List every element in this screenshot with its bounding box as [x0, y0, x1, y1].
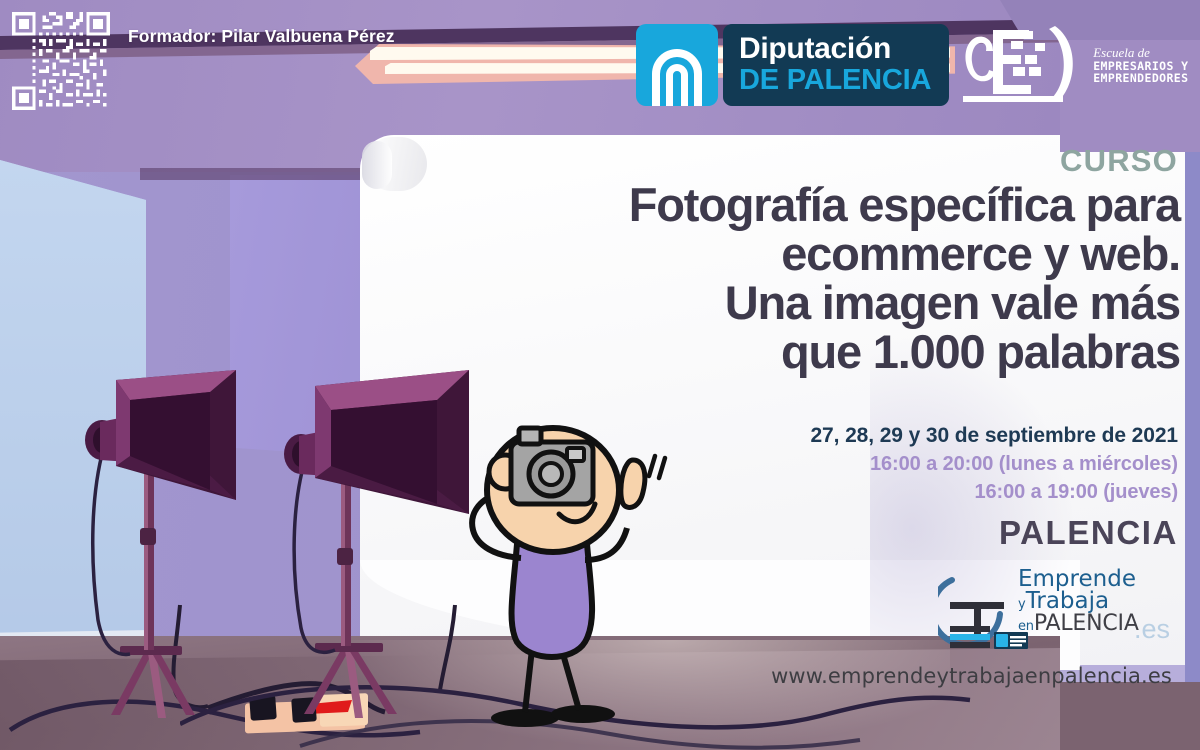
poster-title: Fotografía específica para ecommerce y w… [480, 180, 1180, 376]
schedule-line: 16:00 a 19:00 (jueves) [498, 481, 1178, 504]
title-line: Fotografía específica para [480, 180, 1180, 229]
diputacion-arch-icon [636, 24, 718, 106]
title-line: ecommerce y web. [480, 229, 1180, 278]
course-city: PALENCIA [498, 514, 1178, 552]
emprende-tld: .es [1134, 614, 1170, 645]
right-bottom-band [1060, 682, 1200, 750]
date-block: 27, 28, 29 y 30 de septiembre de 2021 16… [498, 424, 1178, 552]
emprende-wordmark: Emprende yTrabaja enPALENCIA [1018, 568, 1139, 634]
website-url[interactable]: www.emprendeytrabajaenpalencia.es [771, 664, 1172, 688]
emprende-mark [938, 566, 1030, 652]
shoe-right [551, 705, 615, 723]
eee-logo: Escuela de EMPRESARIOS Y EMPRENDEDORES [963, 23, 1188, 107]
diputacion-line1: Diputación [739, 34, 931, 65]
poster-canvas: Formador: Pilar Valbuena Pérez Diputació… [0, 0, 1200, 750]
emprende-line3: PALENCIA [1034, 611, 1139, 636]
diputacion-wordmark: Diputación DE PALENCIA [723, 24, 949, 106]
emprende-line3-wrap: enPALENCIA [1018, 613, 1139, 634]
course-kicker: CURSO [1060, 143, 1178, 179]
diputacion-line2: DE PALENCIA [739, 65, 931, 95]
backdrop-roll-shading [362, 141, 392, 189]
title-line: que 1.000 palabras [480, 327, 1180, 376]
trainer-label: Formador: Pilar Valbuena Pérez [128, 26, 395, 47]
eee-line3: EMPRENDEDORES [1093, 72, 1188, 84]
emprende-y-trabaja-logo[interactable]: Emprende yTrabaja enPALENCIA .es [938, 566, 1168, 654]
eee-wordmark: Escuela de EMPRESARIOS Y EMPRENDEDORES [1093, 46, 1188, 85]
right-edge-strip [1185, 152, 1200, 682]
course-dates: 27, 28, 29 y 30 de septiembre de 2021 [498, 424, 1178, 448]
emprende-line2-prefix: y [1018, 597, 1026, 612]
qr-code[interactable] [12, 12, 110, 110]
emprende-line1: Emprende [1018, 568, 1139, 590]
emprende-line3-prefix: en [1018, 619, 1034, 634]
title-line: Una imagen vale más [480, 278, 1180, 327]
emprende-line2-wrap: yTrabaja [1018, 590, 1139, 612]
eee-mark [963, 23, 1085, 107]
torso-shirt [512, 544, 593, 657]
schedule-line: 16:00 a 20:00 (lunes a miércoles) [498, 453, 1178, 476]
header-logos: Diputación DE PALENCIA [636, 22, 1188, 108]
eee-line1: Escuela de [1093, 46, 1188, 60]
